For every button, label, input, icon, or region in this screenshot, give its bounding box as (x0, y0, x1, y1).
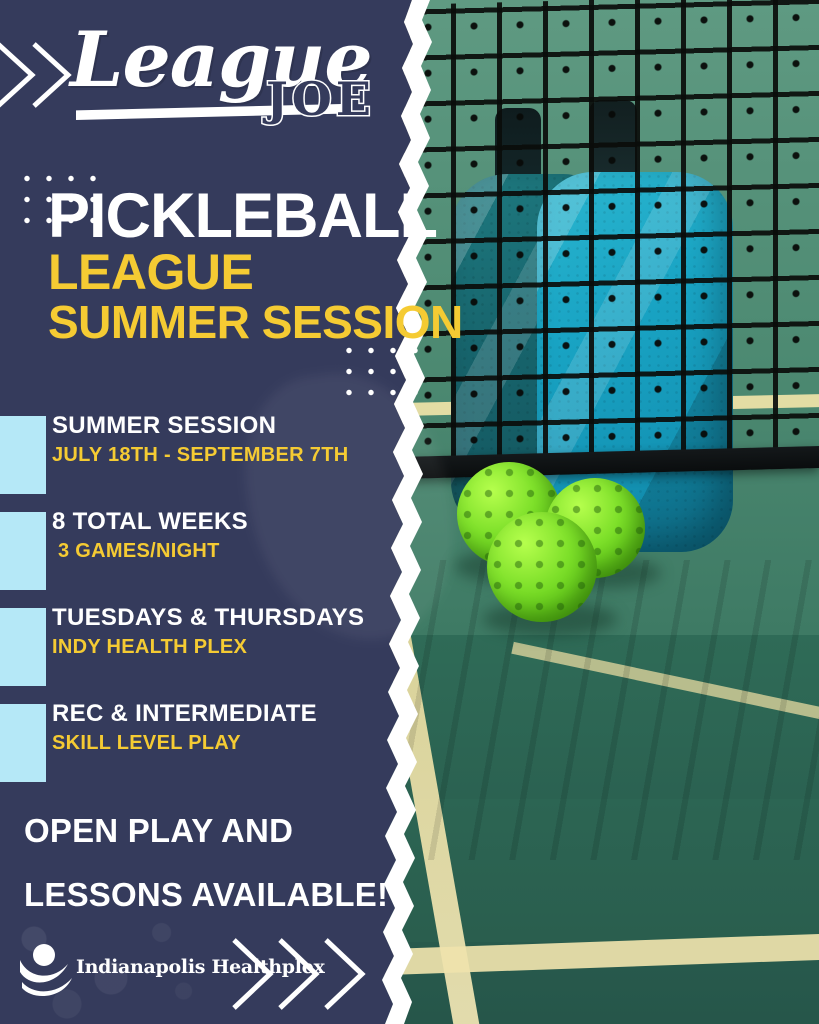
list-item-text: REC & INTERMEDIATE SKILL LEVEL PLAY (52, 700, 317, 755)
league-joe-logo: League JOE (70, 18, 370, 136)
headline-line-pickleball: PICKLEBALL (48, 186, 428, 246)
list-item: REC & INTERMEDIATE SKILL LEVEL PLAY (0, 696, 400, 792)
list-item-subtitle: INDY HEALTH PLEX (52, 636, 364, 659)
list-item: 8 TOTAL WEEKS 3 GAMES/NIGHT (0, 504, 400, 600)
headline: PICKLEBALL LEAGUE SUMMER SESSION (48, 186, 428, 347)
list-item-title: 8 TOTAL WEEKS (52, 508, 248, 536)
call-to-action: OPEN PLAY AND LESSONS AVAILABLE! (24, 812, 404, 940)
cta-line-2: LESSONS AVAILABLE! (24, 876, 404, 914)
list-item-subtitle: SKILL LEVEL PLAY (52, 732, 317, 755)
list-item-marker (0, 512, 46, 590)
dot-grid-decoration-middle (338, 340, 420, 404)
healthplex-figure-icon (18, 938, 80, 1000)
chevron-right-icon-group-bottom (228, 932, 376, 1016)
details-list: SUMMER SESSION JULY 18TH - SEPTEMBER 7TH… (0, 408, 400, 792)
logo-block-text: JOE (266, 72, 375, 126)
chevron-right-icon-group-top (0, 34, 78, 116)
list-item-title: REC & INTERMEDIATE (52, 700, 317, 728)
list-item-marker (0, 416, 46, 494)
sponsor-logo: Indianapolis Healthplex (18, 938, 218, 1004)
ball-holes (487, 512, 597, 622)
list-item-text: SUMMER SESSION JULY 18TH - SEPTEMBER 7TH (52, 412, 348, 467)
headline-line-league: LEAGUE (48, 246, 428, 298)
list-item: TUESDAYS & THURSDAYS INDY HEALTH PLEX (0, 600, 400, 696)
headline-line-summer-session: SUMMER SESSION (48, 298, 428, 347)
pickleball (487, 512, 597, 622)
cta-line-1: OPEN PLAY AND (24, 812, 404, 850)
list-item-title: SUMMER SESSION (52, 412, 348, 440)
list-item-marker (0, 704, 46, 782)
list-item-text: TUESDAYS & THURSDAYS INDY HEALTH PLEX (52, 604, 364, 659)
list-item: SUMMER SESSION JULY 18TH - SEPTEMBER 7TH (0, 408, 400, 504)
list-item-text: 8 TOTAL WEEKS 3 GAMES/NIGHT (52, 508, 248, 563)
list-item-subtitle: JULY 18TH - SEPTEMBER 7TH (52, 444, 348, 467)
list-item-title: TUESDAYS & THURSDAYS (52, 604, 364, 632)
poster: League JOE PICKLEBALL LEAGUE SUMMER SESS… (0, 0, 819, 1024)
list-item-subtitle: 3 GAMES/NIGHT (52, 540, 248, 563)
list-item-marker (0, 608, 46, 686)
